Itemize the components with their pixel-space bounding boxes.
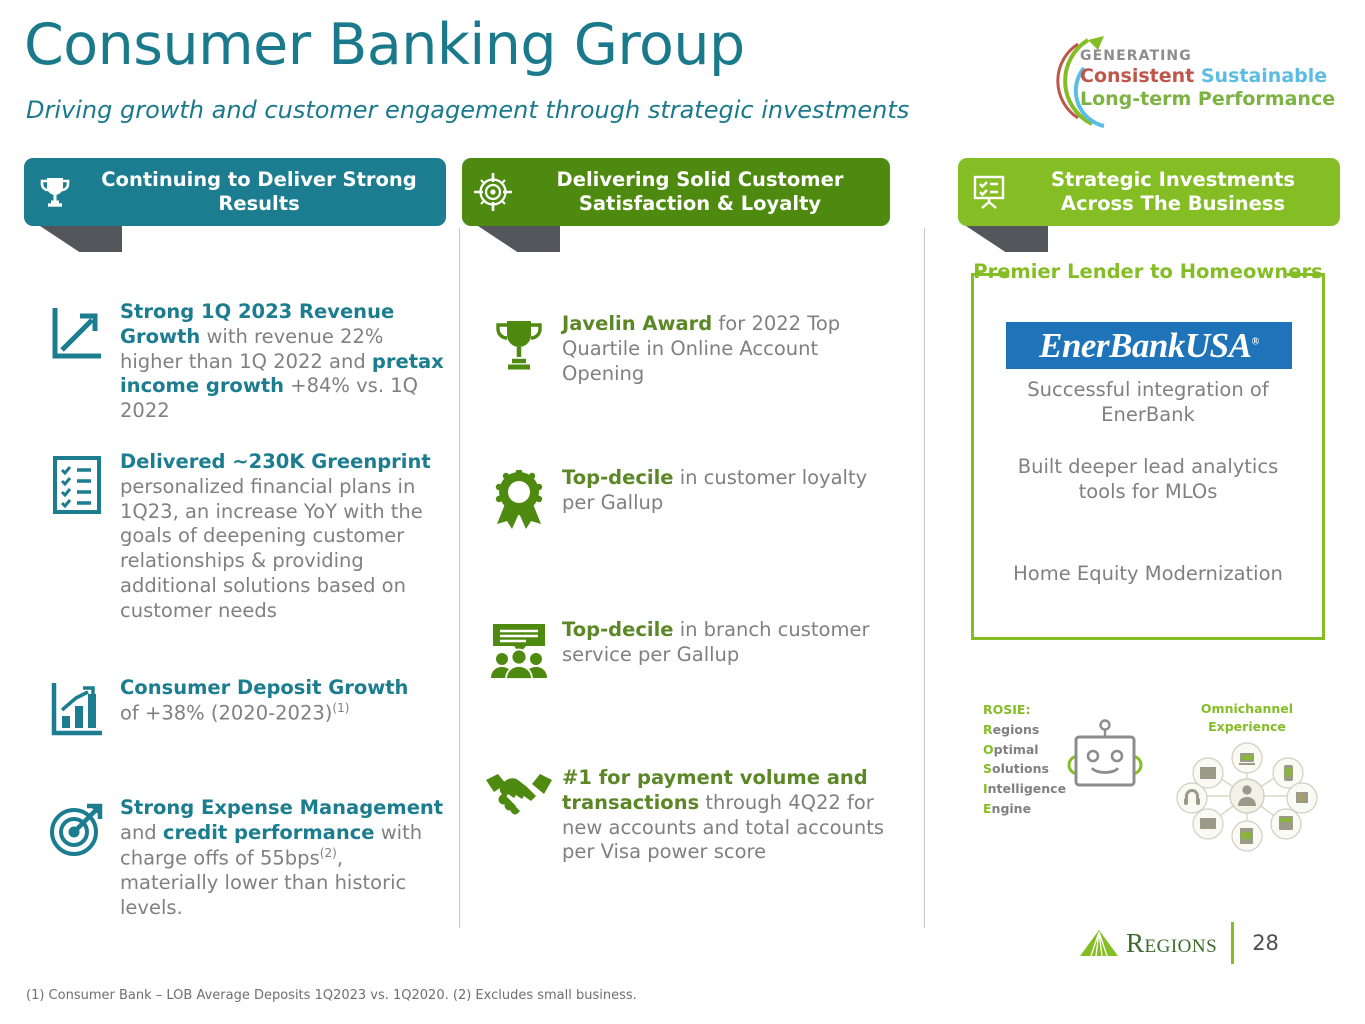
regions-pyramid-icon bbox=[1078, 928, 1120, 958]
rosie-cap: O bbox=[983, 742, 994, 757]
rosie-item: Solutions bbox=[983, 759, 1066, 779]
tagline-longterm: Long-term Performance bbox=[1080, 88, 1335, 110]
slide-root: Consumer Banking Group Driving growth an… bbox=[0, 0, 1365, 1024]
rosie-item: Intelligence bbox=[983, 779, 1066, 799]
list-item: Delivered ~230K Greenprint personalized … bbox=[34, 450, 446, 623]
rosie-cap: R bbox=[983, 722, 993, 737]
rosie-item: Optimal bbox=[983, 740, 1066, 760]
crosshair-target-icon bbox=[462, 171, 524, 213]
list-item: Consumer Deposit Growthof +38% (2020-202… bbox=[34, 676, 446, 738]
rosie-rest: olutions bbox=[992, 761, 1049, 776]
footnote: (1) Consumer Bank – LOB Average Deposits… bbox=[26, 988, 637, 1003]
robot-face-icon bbox=[1062, 718, 1148, 803]
list-item-text: #1 for payment volume and transactions t… bbox=[562, 766, 896, 865]
trophy-icon bbox=[24, 172, 86, 212]
registered-mark: ® bbox=[1252, 336, 1259, 347]
regions-wordmark: Regions bbox=[1126, 928, 1217, 959]
rosie-item: Regions bbox=[983, 720, 1066, 740]
enerbank-usa-logo: EnerBankUSA® bbox=[1006, 322, 1292, 369]
rosie-cap: S bbox=[983, 761, 992, 776]
svg-text:$: $ bbox=[1299, 794, 1304, 803]
handshake-icon bbox=[476, 766, 562, 818]
page-title: Consumer Banking Group bbox=[24, 16, 745, 76]
list-item-text: Consumer Deposit Growthof +38% (2020-202… bbox=[120, 676, 408, 726]
rosie-rest: ntelligence bbox=[988, 781, 1066, 796]
list-item-text: Top-decile in customer loyalty per Gallu… bbox=[562, 466, 896, 516]
column-header-label-2: Delivering Solid Customer Satisfaction &… bbox=[524, 168, 890, 217]
list-item: Top-decile in customer loyalty per Gallu… bbox=[476, 466, 896, 532]
column-header-label-3: Strategic Investments Across The Busines… bbox=[1020, 168, 1340, 217]
list-item-text: Strong 1Q 2023 Revenue Growth with reven… bbox=[120, 300, 446, 424]
banner-tail-1 bbox=[40, 226, 122, 252]
premier-lender-heading: Premier Lender to Homeowners bbox=[972, 260, 1324, 285]
omnichannel-block: Omnichannel Experience bbox=[1172, 700, 1322, 857]
regions-brand: Regions 28 bbox=[1078, 922, 1279, 964]
list-item-text: Strong Expense Management and credit per… bbox=[120, 796, 446, 920]
rosie-item: Engine bbox=[983, 799, 1066, 819]
rosie-rest: egions bbox=[993, 722, 1040, 737]
hub-spoke-channels-icon: $ bbox=[1172, 740, 1322, 857]
brand-divider bbox=[1231, 922, 1234, 964]
list-item-text: Javelin Award for 2022 Top Quartile in O… bbox=[562, 312, 896, 386]
rosie-cap: E bbox=[983, 801, 992, 816]
target-arrow-icon bbox=[34, 796, 120, 860]
column-header-delivering-satisfaction: Delivering Solid Customer Satisfaction &… bbox=[462, 158, 890, 226]
page-number: 28 bbox=[1252, 931, 1279, 955]
panel-line-2: Built deeper lead analytics tools for ML… bbox=[998, 455, 1298, 505]
rosie-rest: ngine bbox=[992, 801, 1032, 816]
checklist-icon bbox=[34, 450, 120, 516]
bar-chart-growth-icon bbox=[34, 676, 120, 738]
growth-arrow-icon bbox=[34, 300, 120, 362]
tagline-generating: GENERATING bbox=[1080, 48, 1335, 64]
people-feedback-icon bbox=[476, 618, 562, 680]
tagline-sustainable: Sustainable bbox=[1201, 65, 1327, 87]
banner-tail-3 bbox=[966, 226, 1048, 252]
column-header-label-1: Continuing to Deliver Strong Results bbox=[86, 168, 446, 217]
banner-tail-2 bbox=[478, 226, 560, 252]
list-item-text: Top-decile in branch customer service pe… bbox=[562, 618, 896, 668]
list-item: Strong Expense Management and credit per… bbox=[34, 796, 446, 920]
panel-line-1: Successful integration of EnerBank bbox=[998, 378, 1298, 428]
rosie-rest: ptimal bbox=[994, 742, 1039, 757]
column-divider-1 bbox=[459, 228, 460, 928]
rosie-acronym-block: ROSIE: Regions Optimal Solutions Intelli… bbox=[983, 700, 1066, 819]
list-item: Top-decile in branch customer service pe… bbox=[476, 618, 896, 680]
list-item-text: Delivered ~230K Greenprint personalized … bbox=[120, 450, 446, 623]
page-subtitle: Driving growth and customer engagement t… bbox=[26, 96, 909, 124]
tagline-consistent: Consistent bbox=[1080, 65, 1194, 87]
award-rosette-icon bbox=[476, 466, 562, 532]
list-item: Strong 1Q 2023 Revenue Growth with reven… bbox=[34, 300, 446, 424]
generating-tagline-logo: GENERATING Consistent Sustainable Long-t… bbox=[1018, 22, 1338, 132]
column-header-strategic-investments: Strategic Investments Across The Busines… bbox=[958, 158, 1340, 226]
list-item: Javelin Award for 2022 Top Quartile in O… bbox=[476, 312, 896, 386]
presentation-checklist-icon bbox=[958, 171, 1020, 213]
rosie-title: ROSIE: bbox=[983, 700, 1066, 720]
trophy-icon bbox=[476, 312, 562, 374]
column-divider-2 bbox=[924, 228, 925, 928]
column-header-continuing-to-deliver: Continuing to Deliver Strong Results bbox=[24, 158, 446, 226]
list-item: #1 for payment volume and transactions t… bbox=[476, 766, 896, 865]
omnichannel-title-line1: Omnichannel bbox=[1172, 700, 1322, 718]
enerbank-logo-text: EnerBankUSA bbox=[1039, 326, 1251, 365]
omnichannel-title-line2: Experience bbox=[1172, 718, 1322, 736]
panel-line-3: Home Equity Modernization bbox=[998, 562, 1298, 587]
